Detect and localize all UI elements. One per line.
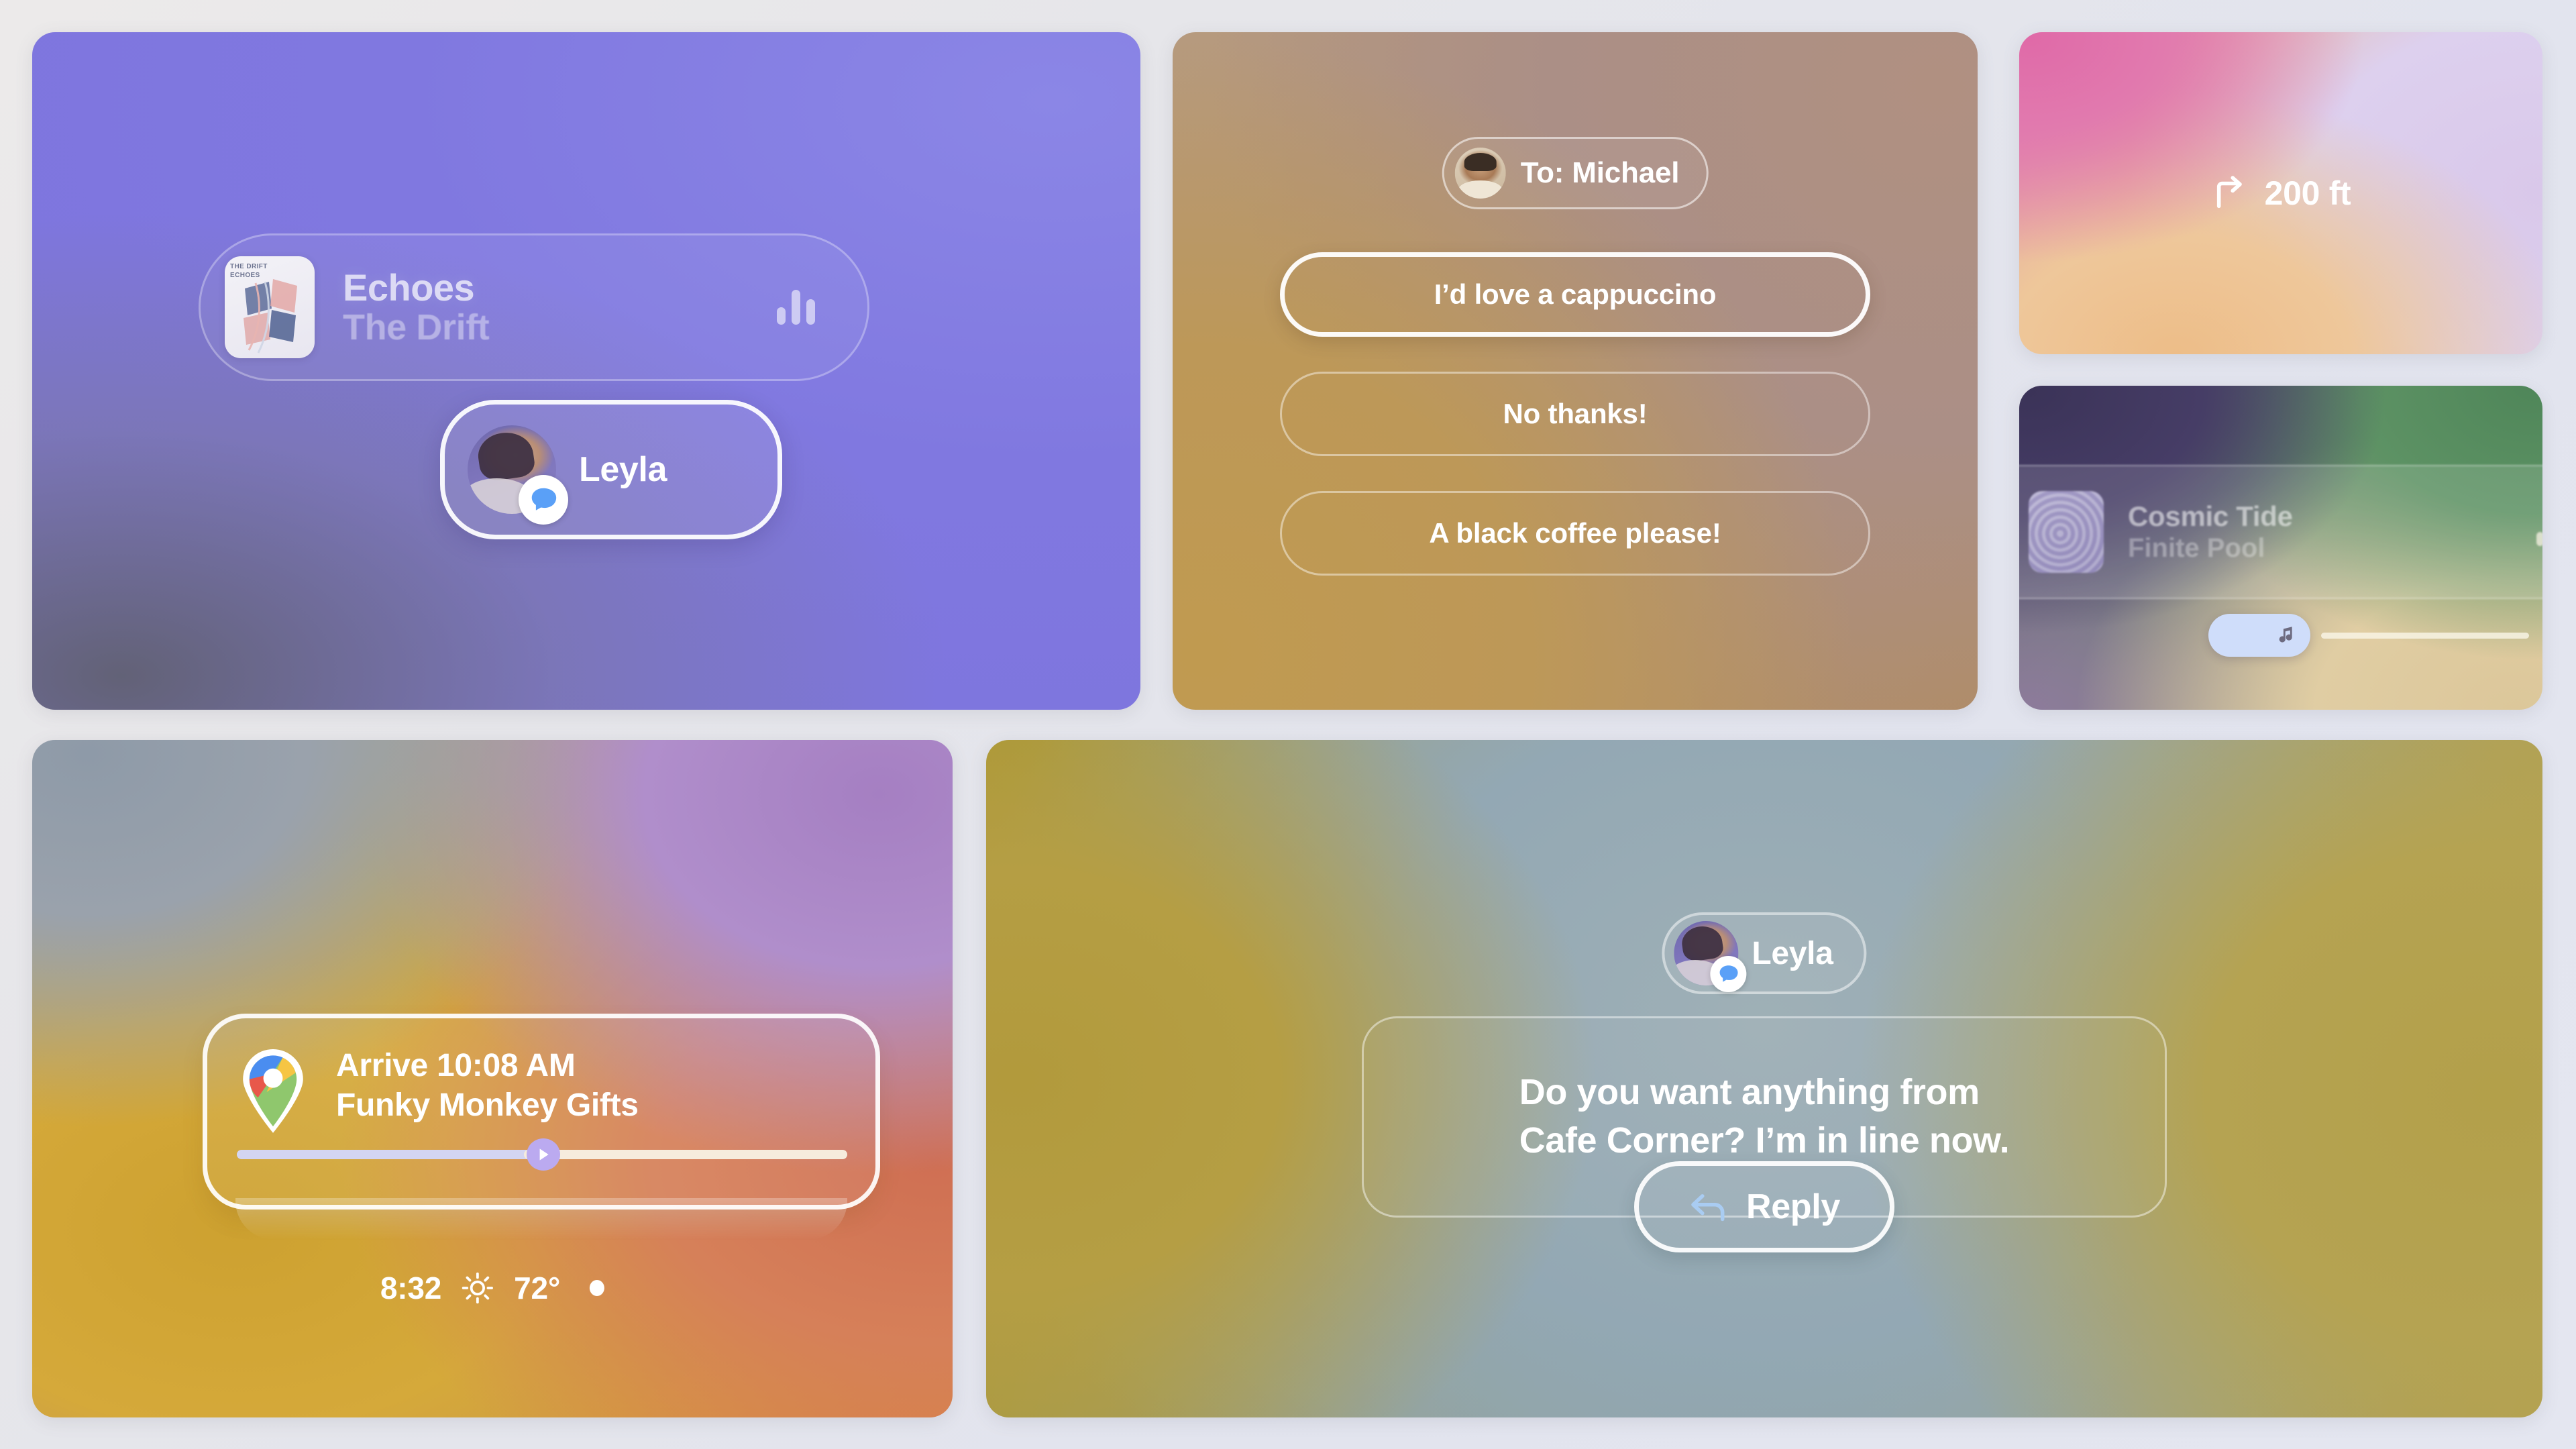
music-note-icon <box>2277 624 2300 647</box>
reply-arrow-icon <box>1688 1191 1729 1222</box>
status-temperature: 72° <box>514 1270 560 1306</box>
route-progress-fill <box>237 1150 536 1159</box>
message-panel: Leyla Do you want anything from Cafe Cor… <box>986 740 2542 1417</box>
album-art: THE DRIFT ECHOES <box>225 256 315 358</box>
now-playing-artist: The Drift <box>343 309 489 346</box>
navigation-distance-row: 200 ft <box>2211 174 2351 213</box>
contact-leyla-pill[interactable]: Leyla <box>440 400 782 539</box>
messages-bubble-icon <box>1710 956 1746 992</box>
route-progress-knob[interactable] <box>527 1138 560 1171</box>
quick-reply-option-1-label: I’d love a cappuccino <box>1434 278 1717 311</box>
equalizer-icon <box>2536 518 2542 546</box>
status-row: 8:32 72° <box>380 1270 604 1306</box>
now-playing-title: Echoes <box>343 268 489 307</box>
recipient-pill: To: Michael <box>1442 137 1709 209</box>
music-source-pill[interactable] <box>2208 614 2310 657</box>
quick-reply-option-3-label: A black coffee please! <box>1429 517 1721 549</box>
sun-icon <box>462 1272 494 1304</box>
cosmic-tide-title: Cosmic Tide <box>2128 502 2293 532</box>
navigation-distance-panel: 200 ft <box>2019 32 2542 354</box>
navigation-arrow-icon <box>535 1146 552 1163</box>
recipient-label: To: Michael <box>1521 156 1680 190</box>
navigation-distance-value: 200 ft <box>2265 174 2351 213</box>
quick-reply-option-2-label: No thanks! <box>1503 398 1647 430</box>
cosmic-tide-artist: Finite Pool <box>2128 534 2293 562</box>
cosmic-tide-progress-track[interactable] <box>2321 633 2529 639</box>
messages-bubble-icon <box>519 475 568 525</box>
avatar <box>1674 921 1738 985</box>
status-dot-icon <box>590 1280 604 1296</box>
cosmic-tide-card[interactable]: Cosmic Tide Finite Pool <box>2019 465 2542 599</box>
google-maps-pin-icon <box>238 1049 308 1135</box>
message-body: Do you want anything from Cafe Corner? I… <box>1481 1069 2048 1165</box>
now-playing-card[interactable]: THE DRIFT ECHOES Echoes The Drift <box>199 233 869 381</box>
navigation-arrive-panel: Arrive 10:08 AM Funky Monkey Gifts 8:32 <box>32 740 953 1417</box>
arrive-eta: Arrive 10:08 AM <box>336 1048 639 1085</box>
equalizer-icon <box>777 290 815 325</box>
turn-right-icon <box>2211 174 2250 213</box>
carplay-dashboard: THE DRIFT ECHOES Echoes The Drift <box>0 0 2576 1449</box>
now-playing-panel: THE DRIFT ECHOES Echoes The Drift <box>32 32 1140 710</box>
cosmic-tide-panel: Cosmic Tide Finite Pool <box>2019 386 2542 710</box>
avatar <box>468 425 556 514</box>
cosmic-tide-album-art <box>2029 491 2104 573</box>
quick-reply-panel: To: Michael I’d love a cappuccino No tha… <box>1173 32 1978 710</box>
quick-reply-option-3[interactable]: A black coffee please! <box>1280 491 1870 576</box>
contact-name: Leyla <box>579 449 667 490</box>
message-sender-name: Leyla <box>1752 935 1833 972</box>
arrive-card[interactable]: Arrive 10:08 AM Funky Monkey Gifts <box>203 1014 880 1210</box>
quick-reply-option-1[interactable]: I’d love a cappuccino <box>1280 252 1870 337</box>
quick-reply-option-2[interactable]: No thanks! <box>1280 372 1870 456</box>
reply-button-label: Reply <box>1746 1187 1840 1227</box>
route-progress[interactable] <box>237 1150 847 1159</box>
route-progress-remaining <box>524 1150 847 1159</box>
message-sender-pill: Leyla <box>1662 912 1866 994</box>
status-time: 8:32 <box>380 1270 441 1306</box>
recipient-avatar <box>1455 148 1506 199</box>
reply-button[interactable]: Reply <box>1634 1161 1894 1252</box>
arrive-destination: Funky Monkey Gifts <box>336 1087 639 1124</box>
